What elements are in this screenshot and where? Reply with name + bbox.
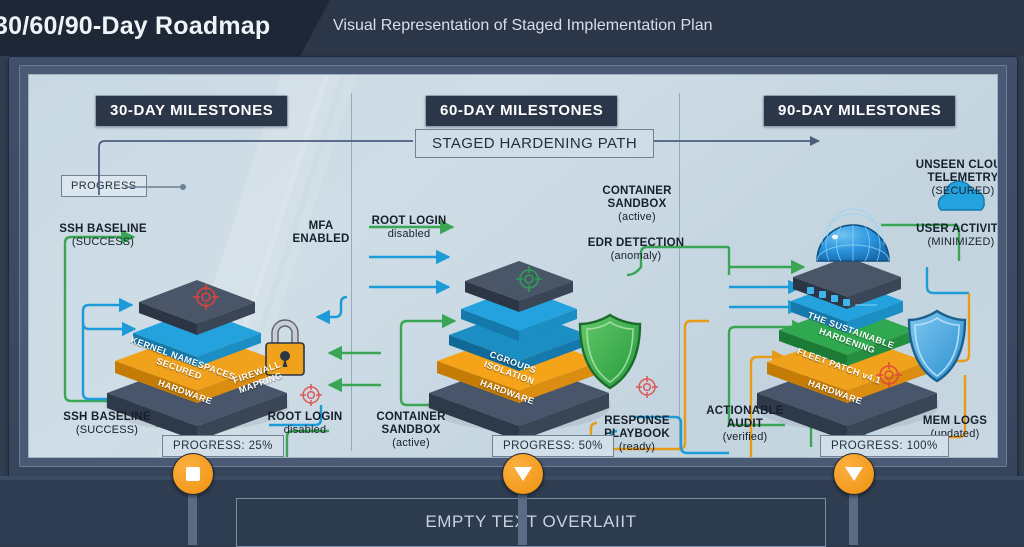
page-subtitle: Visual Representation of Staged Implemen…: [333, 17, 713, 35]
header-bar: 30/60/90-Day Roadmap Visual Representati…: [0, 0, 1024, 56]
label-actionable-audit: ACTIONABLE AUDIT (verified): [697, 405, 793, 444]
label-title: SANDBOX: [608, 198, 667, 210]
label-title: SSH BASELINE: [59, 223, 146, 235]
label-container-sandbox-bottom: CONTAINER SANDBOX (active): [363, 411, 459, 450]
label-title: ROOT LOGIN: [372, 215, 447, 227]
diagram-canvas: 30-DAY MILESTONES 60-DAY MILESTONES 90-D…: [28, 74, 998, 458]
milestone-marker-30day[interactable]: [172, 453, 214, 495]
label-title: PLAYBOOK: [604, 428, 670, 440]
label-title: CONTAINER: [376, 411, 445, 423]
label-title: AUDIT: [727, 418, 763, 430]
label-title: RESPONSE: [604, 415, 670, 427]
label-title: MEM LOGS: [923, 415, 987, 427]
label-sub: (active): [363, 437, 459, 450]
progress-badge-60day: PROGRESS: 50%: [492, 435, 614, 457]
label-sub: disabled: [363, 228, 455, 241]
blue-globe-dome-icon: [817, 209, 889, 261]
board-frame-outer: 30-DAY MILESTONES 60-DAY MILESTONES 90-D…: [8, 56, 1018, 478]
label-title: TELEMETRY: [927, 172, 998, 184]
label-ssh-baseline-top: SSH BASELINE (SUCCESS): [53, 223, 153, 249]
label-user-activity: USER ACTIVITY (MINIMIZED): [905, 223, 998, 249]
square-marker-icon: [186, 467, 200, 481]
label-title: ROOT LOGIN: [268, 411, 343, 423]
triangle-marker-icon: [845, 467, 863, 481]
progress-badge-90day: PROGRESS: 100%: [820, 435, 949, 457]
label-sub: (SUCCESS): [53, 236, 153, 249]
label-unseen-cloud-telemetry: UNSEEN CLOUD TELEMETRY (SECURED): [909, 159, 998, 198]
roadmap-infographic: 30/60/90-Day Roadmap Visual Representati…: [0, 0, 1024, 545]
overlay-text: EMPTY TEXT OVERLAIIT: [237, 512, 825, 532]
padlock-icon: [266, 320, 304, 375]
milestone-marker-90day[interactable]: [833, 453, 875, 495]
label-sub: ENABLED: [283, 233, 359, 246]
label-edr-detection: EDR DETECTION (anomaly): [581, 237, 691, 263]
label-title: MFA: [309, 220, 334, 232]
label-title: SANDBOX: [382, 424, 441, 436]
label-title: EDR DETECTION: [588, 237, 685, 249]
staged-hardening-path-banner: STAGED HARDENING PATH: [415, 129, 654, 158]
label-root-login-c1: ROOT LOGIN disabled: [259, 411, 351, 437]
label-sub: (SECURED): [909, 185, 998, 198]
label-container-sandbox-top: CONTAINER SANDBOX (active): [589, 185, 685, 224]
triangle-marker-icon: [514, 467, 532, 481]
label-sub: (MINIMIZED): [905, 236, 998, 249]
board-frame-inner: 30-DAY MILESTONES 60-DAY MILESTONES 90-D…: [19, 65, 1007, 467]
label-sub: (SUCCESS): [57, 424, 157, 437]
label-title: USER ACTIVITY: [916, 223, 998, 235]
progress-badge-30day: PROGRESS: 25%: [162, 435, 284, 457]
label-title: SSH BASELINE: [63, 411, 150, 423]
label-ssh-baseline-bottom: SSH BASELINE (SUCCESS): [57, 411, 157, 437]
overlay-text-box: EMPTY TEXT OVERLAIIT: [236, 498, 826, 547]
label-title: CONTAINER: [602, 185, 671, 197]
pyramid-90day: [755, 181, 984, 441]
label-title: ACTIONABLE: [706, 405, 783, 417]
label-sub: (anomaly): [581, 250, 691, 263]
label-sub: (active): [589, 211, 685, 224]
label-sub: (verified): [697, 431, 793, 444]
label-root-login-c2: ROOT LOGIN disabled: [363, 215, 455, 241]
milestone-marker-60day[interactable]: [502, 453, 544, 495]
label-title: UNSEEN CLOUD: [916, 159, 998, 171]
page-title: 30/60/90-Day Roadmap: [0, 12, 270, 41]
label-mfa-enabled: MFA ENABLED: [283, 220, 359, 246]
